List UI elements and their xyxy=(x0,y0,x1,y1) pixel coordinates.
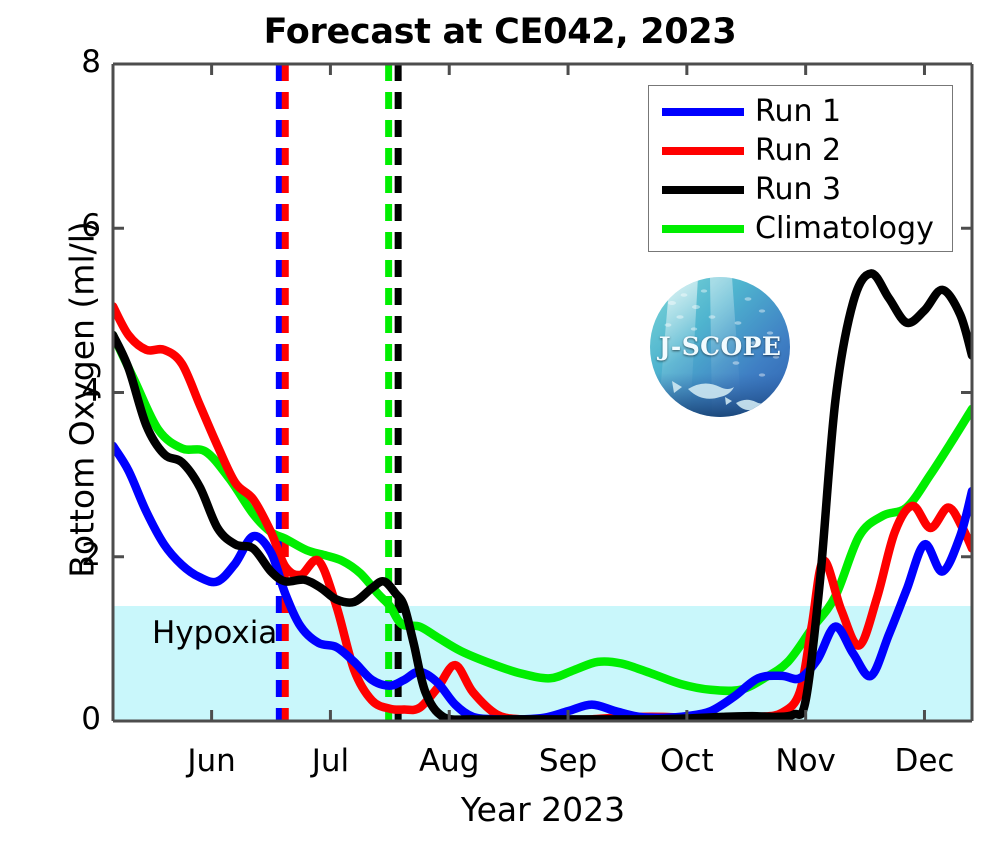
legend-item-climatology[interactable]: Climatology xyxy=(649,209,952,249)
y-tick-label-8: 8 xyxy=(41,44,101,80)
hypoxia-band-label: Hypoxia xyxy=(152,615,277,651)
jscope-logo-text: J-SCOPE xyxy=(650,332,790,361)
x-axis-label: Year 2023 xyxy=(113,790,973,829)
legend-label: Run 1 xyxy=(755,97,841,127)
legend-item-run-1[interactable]: Run 1 xyxy=(649,92,952,132)
y-tick-label-2: 2 xyxy=(41,537,101,573)
legend-item-run-3[interactable]: Run 3 xyxy=(649,170,952,210)
legend-label: Climatology xyxy=(755,214,934,244)
x-tick-label-jun: Jun xyxy=(152,743,272,779)
forecast-chart-figure: Forecast at CE042, 2023 Bottom Oxygen (m… xyxy=(0,0,1000,847)
legend-item-run-2[interactable]: Run 2 xyxy=(649,131,952,171)
y-tick-label-6: 6 xyxy=(41,208,101,244)
jscope-logo: J-SCOPE xyxy=(650,277,790,417)
legend-swatch-run-3 xyxy=(662,186,744,194)
legend-swatch-climatology xyxy=(662,225,744,233)
y-tick-label-4: 4 xyxy=(41,373,101,409)
legend-swatch-run-1 xyxy=(662,108,744,116)
x-tick-label-sep: Sep xyxy=(508,743,628,779)
x-tick-label-nov: Nov xyxy=(746,743,866,779)
x-tick-label-aug: Aug xyxy=(389,743,509,779)
x-tick-label-jul: Jul xyxy=(270,743,390,779)
legend-label: Run 3 xyxy=(755,175,841,205)
chart-legend: Run 1Run 2Run 3Climatology xyxy=(648,85,953,252)
y-tick-label-0: 0 xyxy=(41,701,101,737)
legend-label: Run 2 xyxy=(755,136,841,166)
x-tick-label-dec: Dec xyxy=(864,743,984,779)
legend-swatch-run-2 xyxy=(662,147,744,155)
x-tick-label-oct: Oct xyxy=(627,743,747,779)
